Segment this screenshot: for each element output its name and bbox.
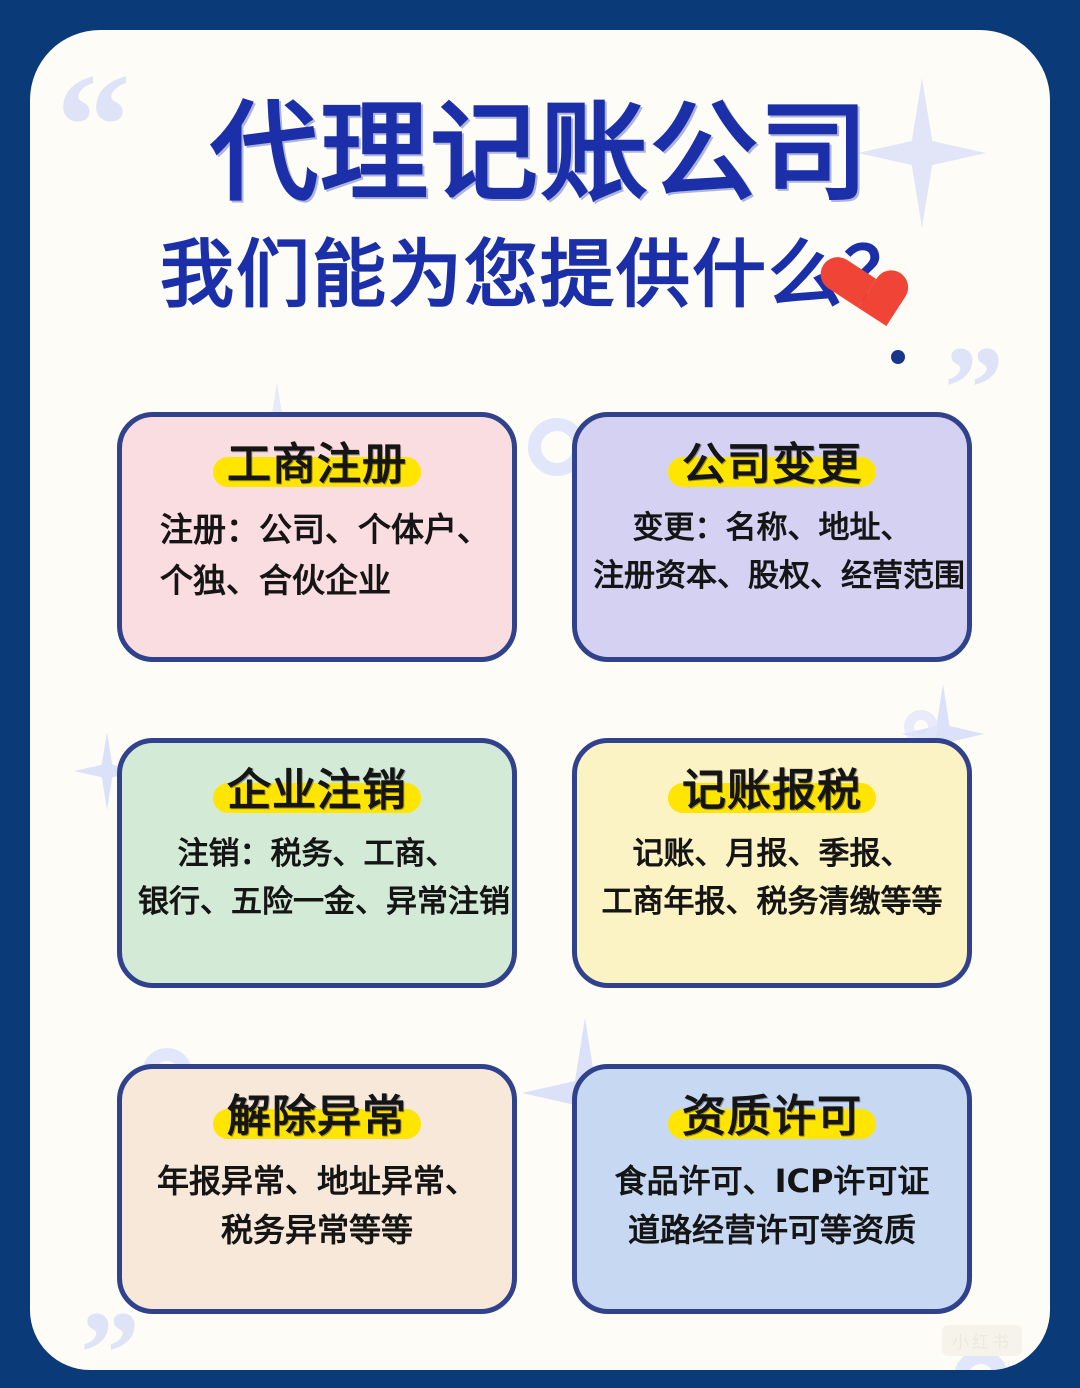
card-line: 工商年报、税务清缴等等	[593, 879, 951, 926]
card-title-wrap: 资质许可	[682, 1093, 862, 1141]
card-title-wrap: 记账报税	[682, 767, 862, 815]
card-title: 工商注册	[227, 439, 407, 490]
card-line: 个独、合伙企业	[160, 556, 496, 606]
card-title: 资质许可	[682, 1091, 862, 1142]
quote-close-bottom-icon: ”	[80, 1305, 140, 1370]
card-line: 道路经营许可等资质	[593, 1206, 951, 1255]
card-body: 年报异常、地址异常、 税务异常等等	[138, 1157, 496, 1254]
service-card-grid: 工商注册 注册：公司、个体户、 个独、合伙企业 公司变更 变更：名称、地址、 注…	[117, 412, 1017, 1314]
card-title-wrap: 解除异常	[227, 1093, 407, 1141]
card-line: 注销：税务、工商、	[138, 831, 496, 878]
card-body: 记账、月报、季报、 工商年报、税务清缴等等	[593, 831, 951, 925]
card-body: 注销：税务、工商、 银行、五险一金、异常注销	[138, 831, 496, 925]
card-title: 解除异常	[227, 1091, 407, 1142]
service-card-jizhangbaoshui[interactable]: 记账报税 记账、月报、季报、 工商年报、税务清缴等等	[572, 738, 972, 988]
poster-panel: “ ” ” 代理记账公司 我们能为您提供什么？ 工商注册	[30, 30, 1050, 1370]
card-body: 食品许可、ICP许可证 道路经营许可等资质	[593, 1157, 951, 1254]
card-title-wrap: 工商注册	[227, 441, 407, 489]
dot-icon	[891, 350, 905, 364]
card-title: 公司变更	[682, 439, 862, 490]
service-card-gongshangzhuce[interactable]: 工商注册 注册：公司、个体户、 个独、合伙企业	[117, 412, 517, 662]
card-line: 税务异常等等	[138, 1206, 496, 1255]
card-title: 企业注销	[227, 765, 407, 816]
service-card-gongsibiangeng[interactable]: 公司变更 变更：名称、地址、 注册资本、股权、经营范围	[572, 412, 972, 662]
service-card-zizhixuke[interactable]: 资质许可 食品许可、ICP许可证 道路经营许可等资质	[572, 1064, 972, 1314]
card-title: 记账报税	[682, 765, 862, 816]
card-line: 注册：公司、个体户、	[160, 505, 496, 555]
card-line: 变更：名称、地址、	[593, 505, 951, 552]
card-line: 记账、月报、季报、	[593, 831, 951, 878]
card-body: 变更：名称、地址、 注册资本、股权、经营范围	[593, 505, 951, 599]
card-body: 注册：公司、个体户、 个独、合伙企业	[138, 505, 496, 605]
card-title-wrap: 企业注销	[227, 767, 407, 815]
service-card-qiyezhuxiao[interactable]: 企业注销 注销：税务、工商、 银行、五险一金、异常注销	[117, 738, 517, 988]
service-card-jiechuyichang[interactable]: 解除异常 年报异常、地址异常、 税务异常等等	[117, 1064, 517, 1314]
card-line: 注册资本、股权、经营范围	[593, 553, 951, 600]
watermark: 小红书	[942, 1325, 1022, 1356]
card-title-wrap: 公司变更	[682, 441, 862, 489]
page-title: 代理记账公司	[30, 86, 1050, 221]
card-line: 年报异常、地址异常、	[138, 1157, 496, 1206]
poster-root: “ ” ” 代理记账公司 我们能为您提供什么？ 工商注册	[0, 0, 1080, 1388]
card-line: 食品许可、ICP许可证	[593, 1157, 951, 1206]
card-line: 银行、五险一金、异常注销	[138, 879, 496, 926]
heart-icon	[814, 246, 892, 324]
